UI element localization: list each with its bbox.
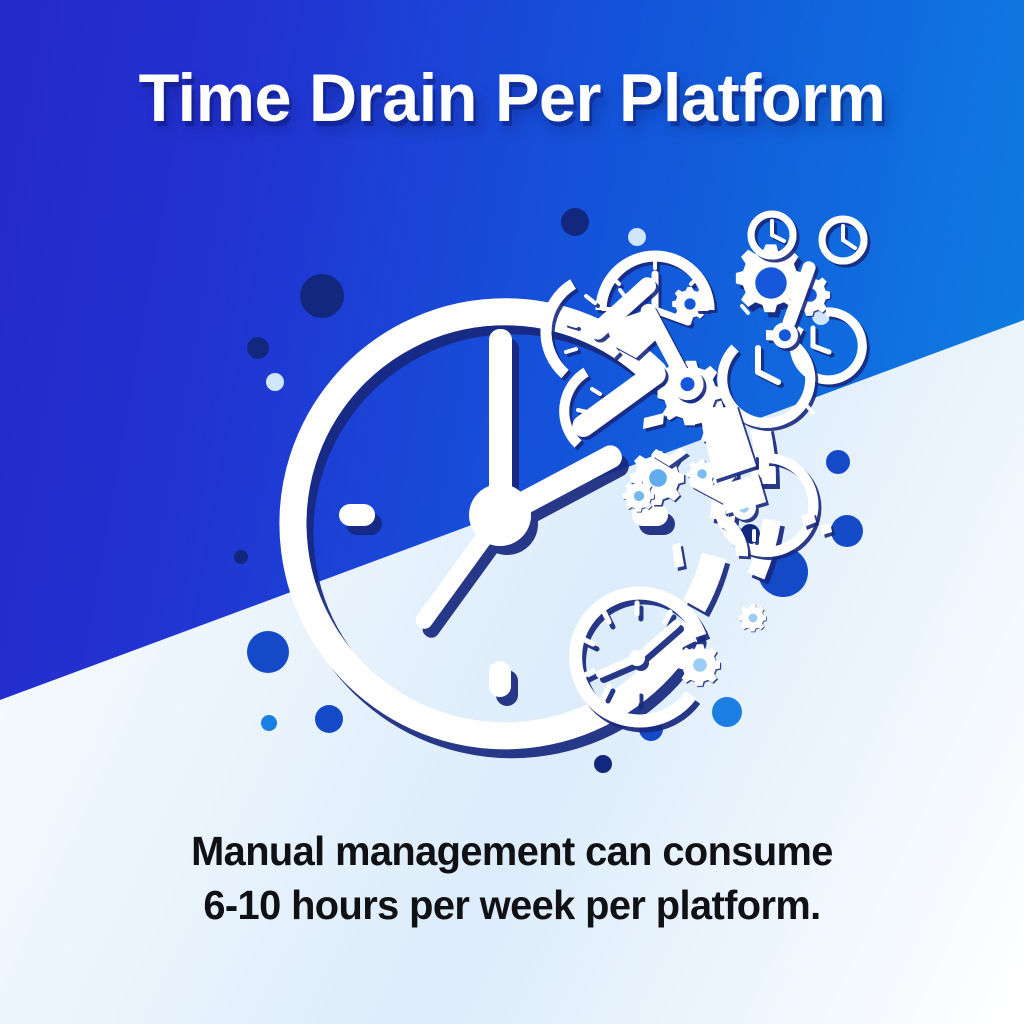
poster-canvas: Time Drain Per Platform Manual managemen… bbox=[0, 0, 1024, 1024]
caption-block: Manual management can consume 6-10 hours… bbox=[15, 824, 1008, 932]
page-title: Time Drain Per Platform bbox=[10, 64, 1014, 132]
main-clock bbox=[293, 312, 686, 736]
caption-line-1: Manual management can consume bbox=[15, 824, 1008, 878]
caption-line-2: 6-10 hours per week per platform. bbox=[15, 878, 1008, 932]
